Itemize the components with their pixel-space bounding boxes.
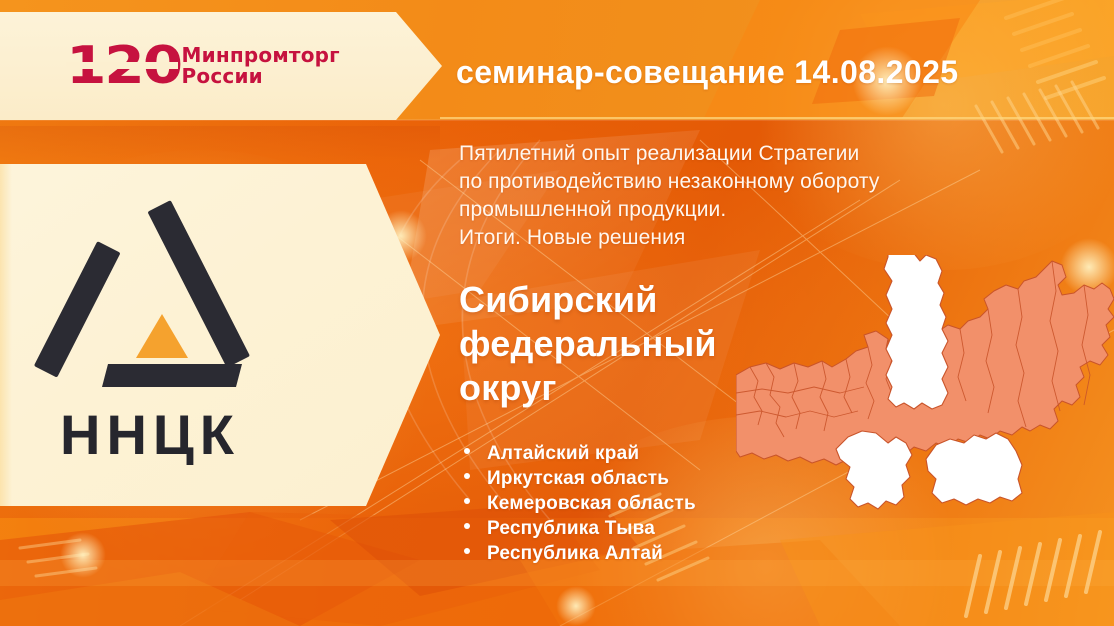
anniversary-120-mark: 120 — [66, 40, 169, 92]
title-line-2: федеральный — [459, 322, 879, 366]
list-item: Республика Тыва — [460, 518, 880, 543]
region-label: Иркутская область — [487, 468, 669, 490]
bullet-icon — [464, 473, 470, 479]
subtitle-line-3: промышленной продукции. — [459, 196, 1019, 224]
triangle-base-stroke — [102, 364, 242, 387]
nnck-logo: ННЦК — [0, 164, 360, 506]
title-line-1: Сибирский — [459, 278, 879, 322]
region-label: Кемеровская область — [487, 493, 696, 515]
nnck-wordmark: ННЦК — [0, 407, 300, 463]
bullet-icon — [464, 523, 470, 529]
bullet-icon — [464, 448, 470, 454]
title-line-3: округ — [459, 366, 879, 410]
ministry-name-line2: России — [182, 66, 340, 87]
spark-bottomleft — [60, 532, 106, 578]
subtitle-block: Пятилетний опыт реализации Стратегии по … — [459, 140, 1019, 252]
regions-list: Алтайский край Иркутская область Кемеров… — [460, 443, 880, 568]
ministry-name: Минпромторг России — [182, 45, 340, 87]
inner-orange-triangle-icon — [136, 314, 188, 358]
anniversary-stripe — [66, 62, 178, 69]
subtitle-line-2: по противодействию незаконному обороту — [459, 168, 1019, 196]
bullet-icon — [464, 548, 470, 554]
list-item: Кемеровская область — [460, 493, 880, 518]
region-label: Алтайский край — [487, 443, 639, 465]
nnck-triangle-mark-icon — [52, 202, 272, 392]
page-title: Сибирский федеральный округ — [459, 278, 879, 410]
list-item: Иркутская область — [460, 468, 880, 493]
list-item: Республика Алтай — [460, 543, 880, 568]
ministry-name-line1: Минпромторг — [182, 45, 340, 66]
ministry-logo-badge: 120 Минпромторг России — [0, 12, 442, 120]
bullet-icon — [464, 498, 470, 504]
subtitle-line-4: Итоги. Новые решения — [459, 224, 1019, 252]
region-label: Республика Тыва — [487, 518, 655, 540]
region-label: Республика Алтай — [487, 543, 663, 565]
event-date-heading: семинар-совещание 14.08.2025 — [456, 54, 958, 91]
triangle-left-stroke — [34, 241, 121, 378]
spark-bottommid — [556, 586, 596, 626]
presentation-slide: 120 Минпромторг России ННЦК семинар-сове… — [0, 0, 1114, 626]
subtitle-line-1: Пятилетний опыт реализации Стратегии — [459, 140, 1019, 168]
list-item: Алтайский край — [460, 443, 880, 468]
